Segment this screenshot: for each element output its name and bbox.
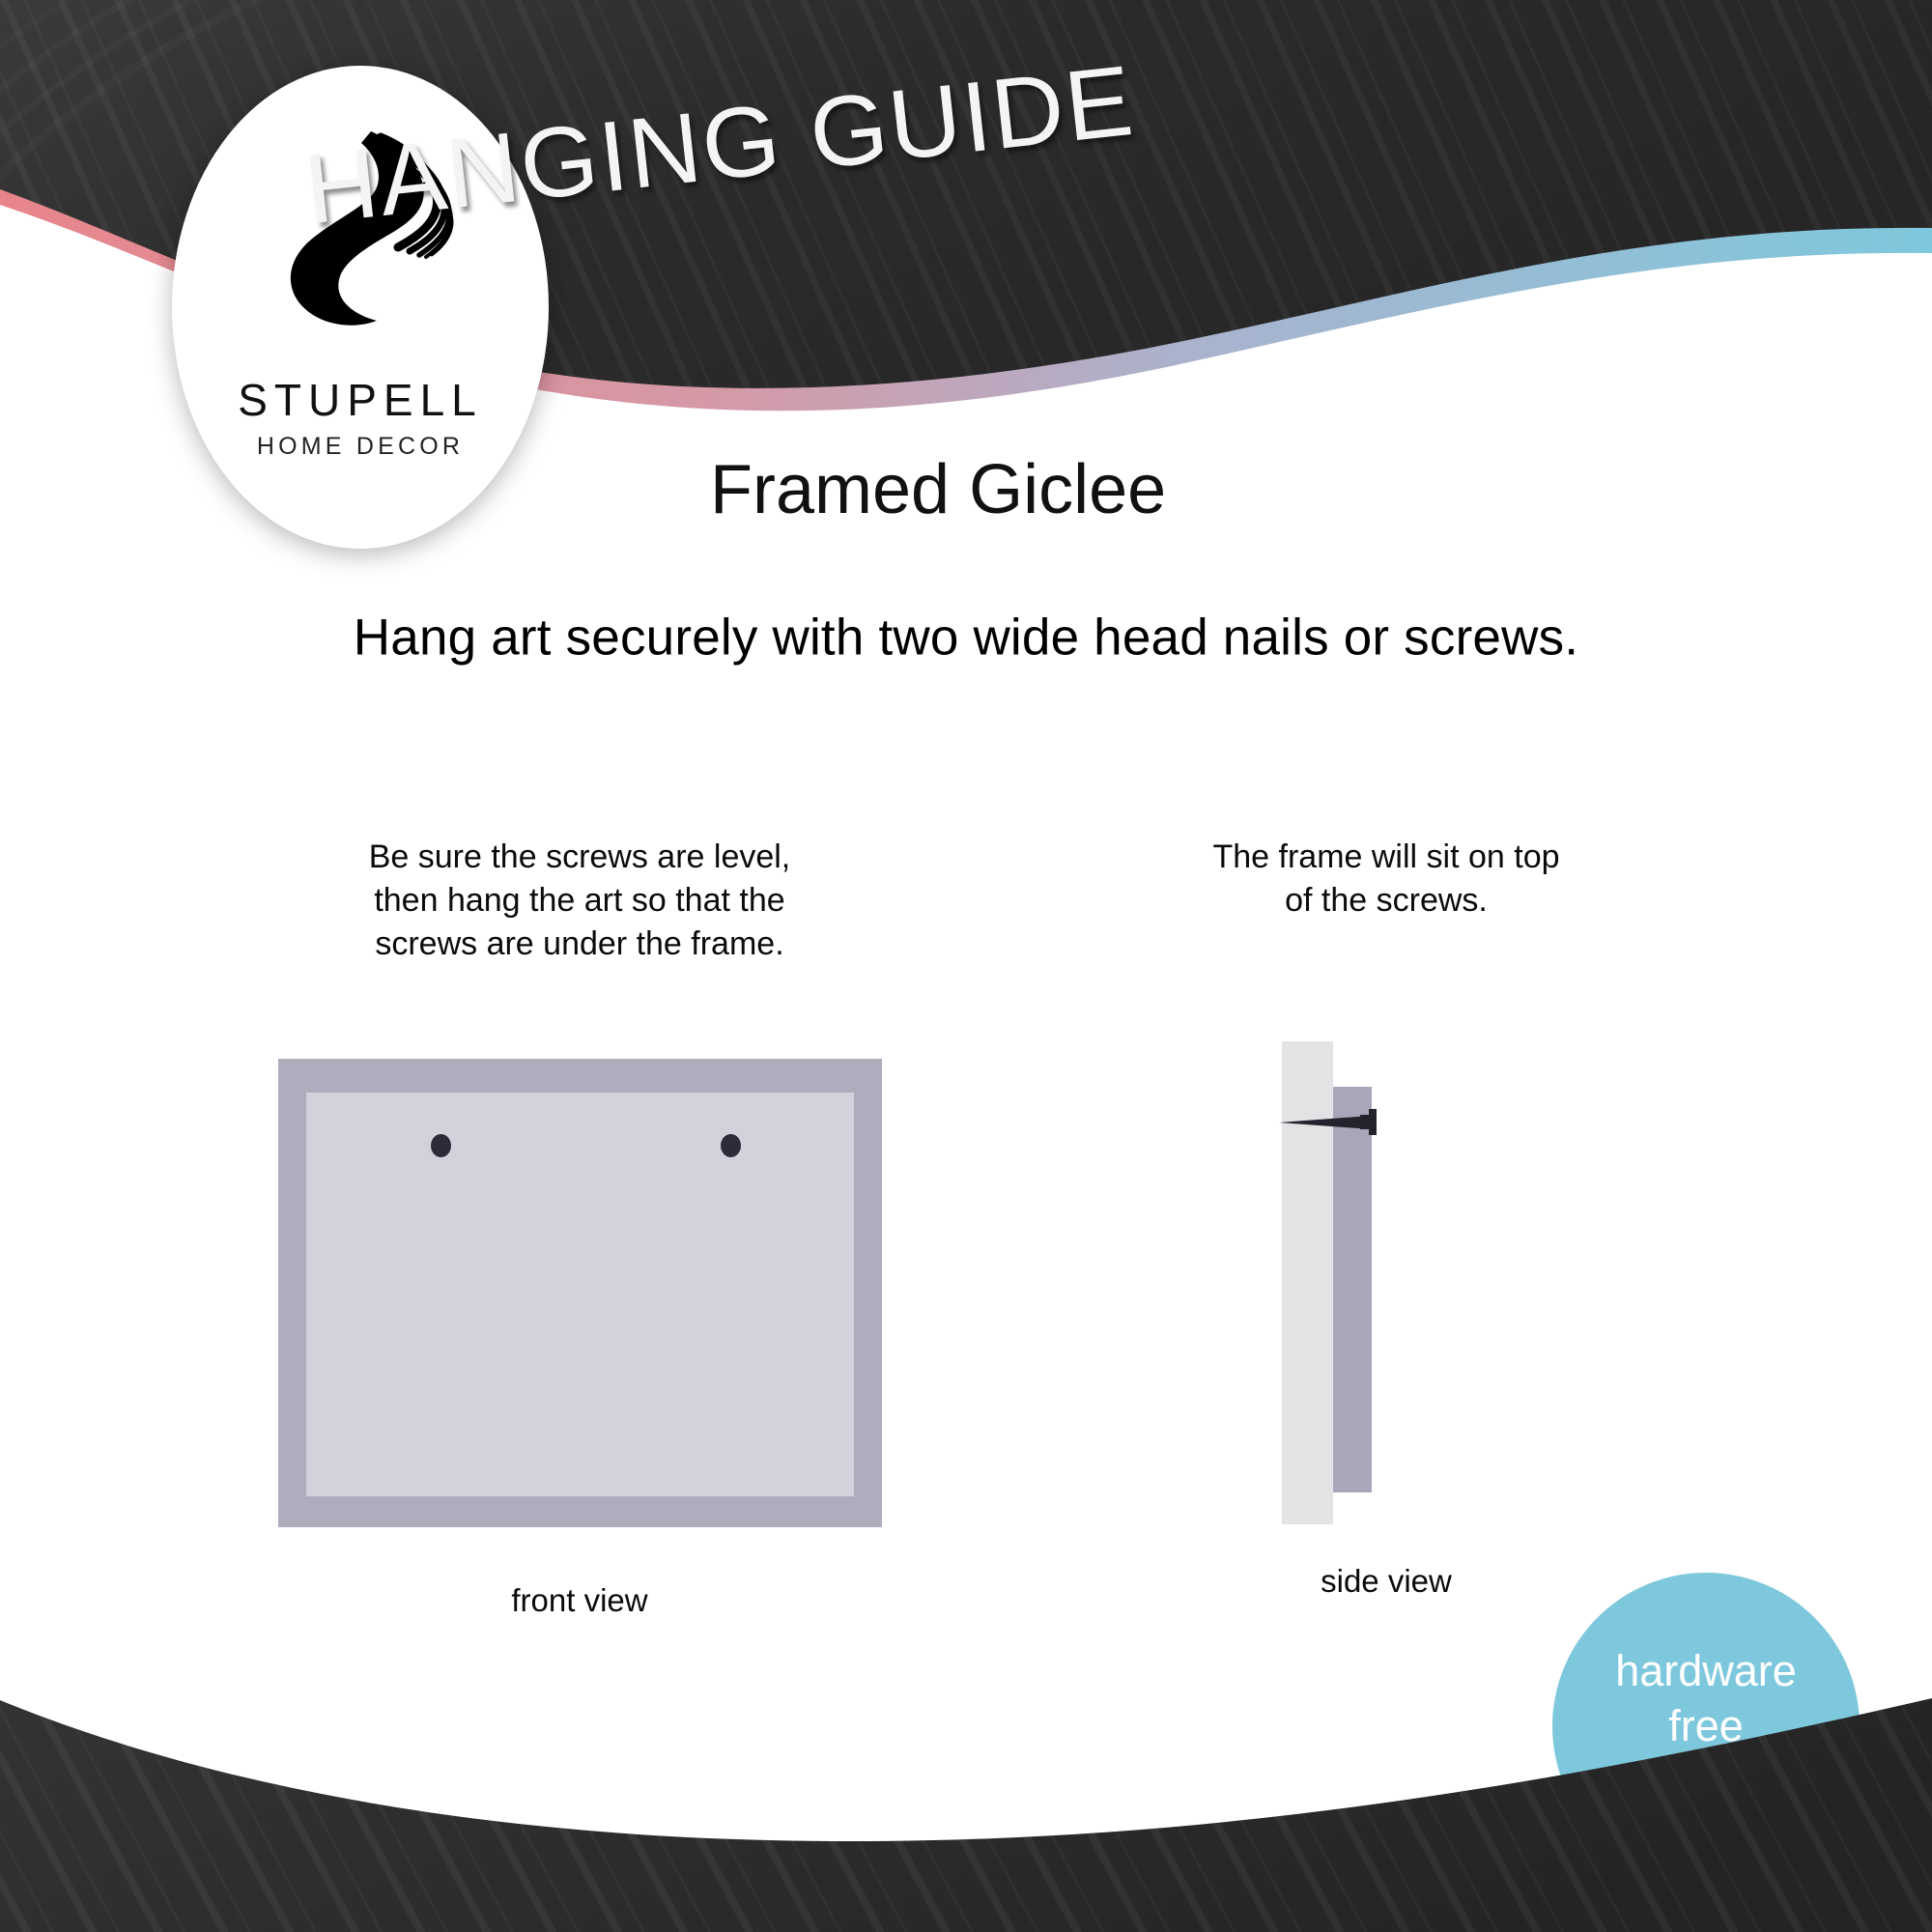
side-view-caption: The frame will sit on top of the screws. [1140,836,1633,923]
footer-texture-stripes [0,1642,1932,1932]
side-view-diagram [1227,1041,1546,1524]
front-caption-line-1: Be sure the screws are level, [270,836,889,879]
logo-subwordmark: HOME DECOR [257,435,464,459]
footer-wave-banner [0,1642,1932,1932]
front-view-caption: Be sure the screws are level, then hang … [270,836,889,967]
screw-dot-right [721,1134,741,1157]
nail-icon [1275,1105,1391,1138]
side-caption-line-2: of the screws. [1140,879,1633,923]
side-view-label: side view [1140,1563,1633,1600]
front-view-column: Be sure the screws are level, then hang … [270,836,889,1619]
headline-instruction: Hang art securely with two wide head nai… [354,609,1578,668]
side-view-column: The frame will sit on top of the screws.… [1140,836,1633,1600]
side-caption-line-1: The frame will sit on top [1140,836,1633,879]
screw-dot-left [431,1134,451,1157]
front-view-diagram [278,1059,882,1527]
footer-wave-svg [0,1642,1932,1932]
front-caption-line-2: then hang the art so that the [270,879,889,923]
frame-cross-section [1333,1087,1372,1492]
front-view-label: front view [270,1582,889,1619]
product-type-label: Framed Giclee [710,450,1166,529]
front-frame-mat [306,1093,854,1496]
logo-wordmark: STUPELL [238,378,483,422]
front-caption-line-3: screws are under the frame. [270,923,889,966]
